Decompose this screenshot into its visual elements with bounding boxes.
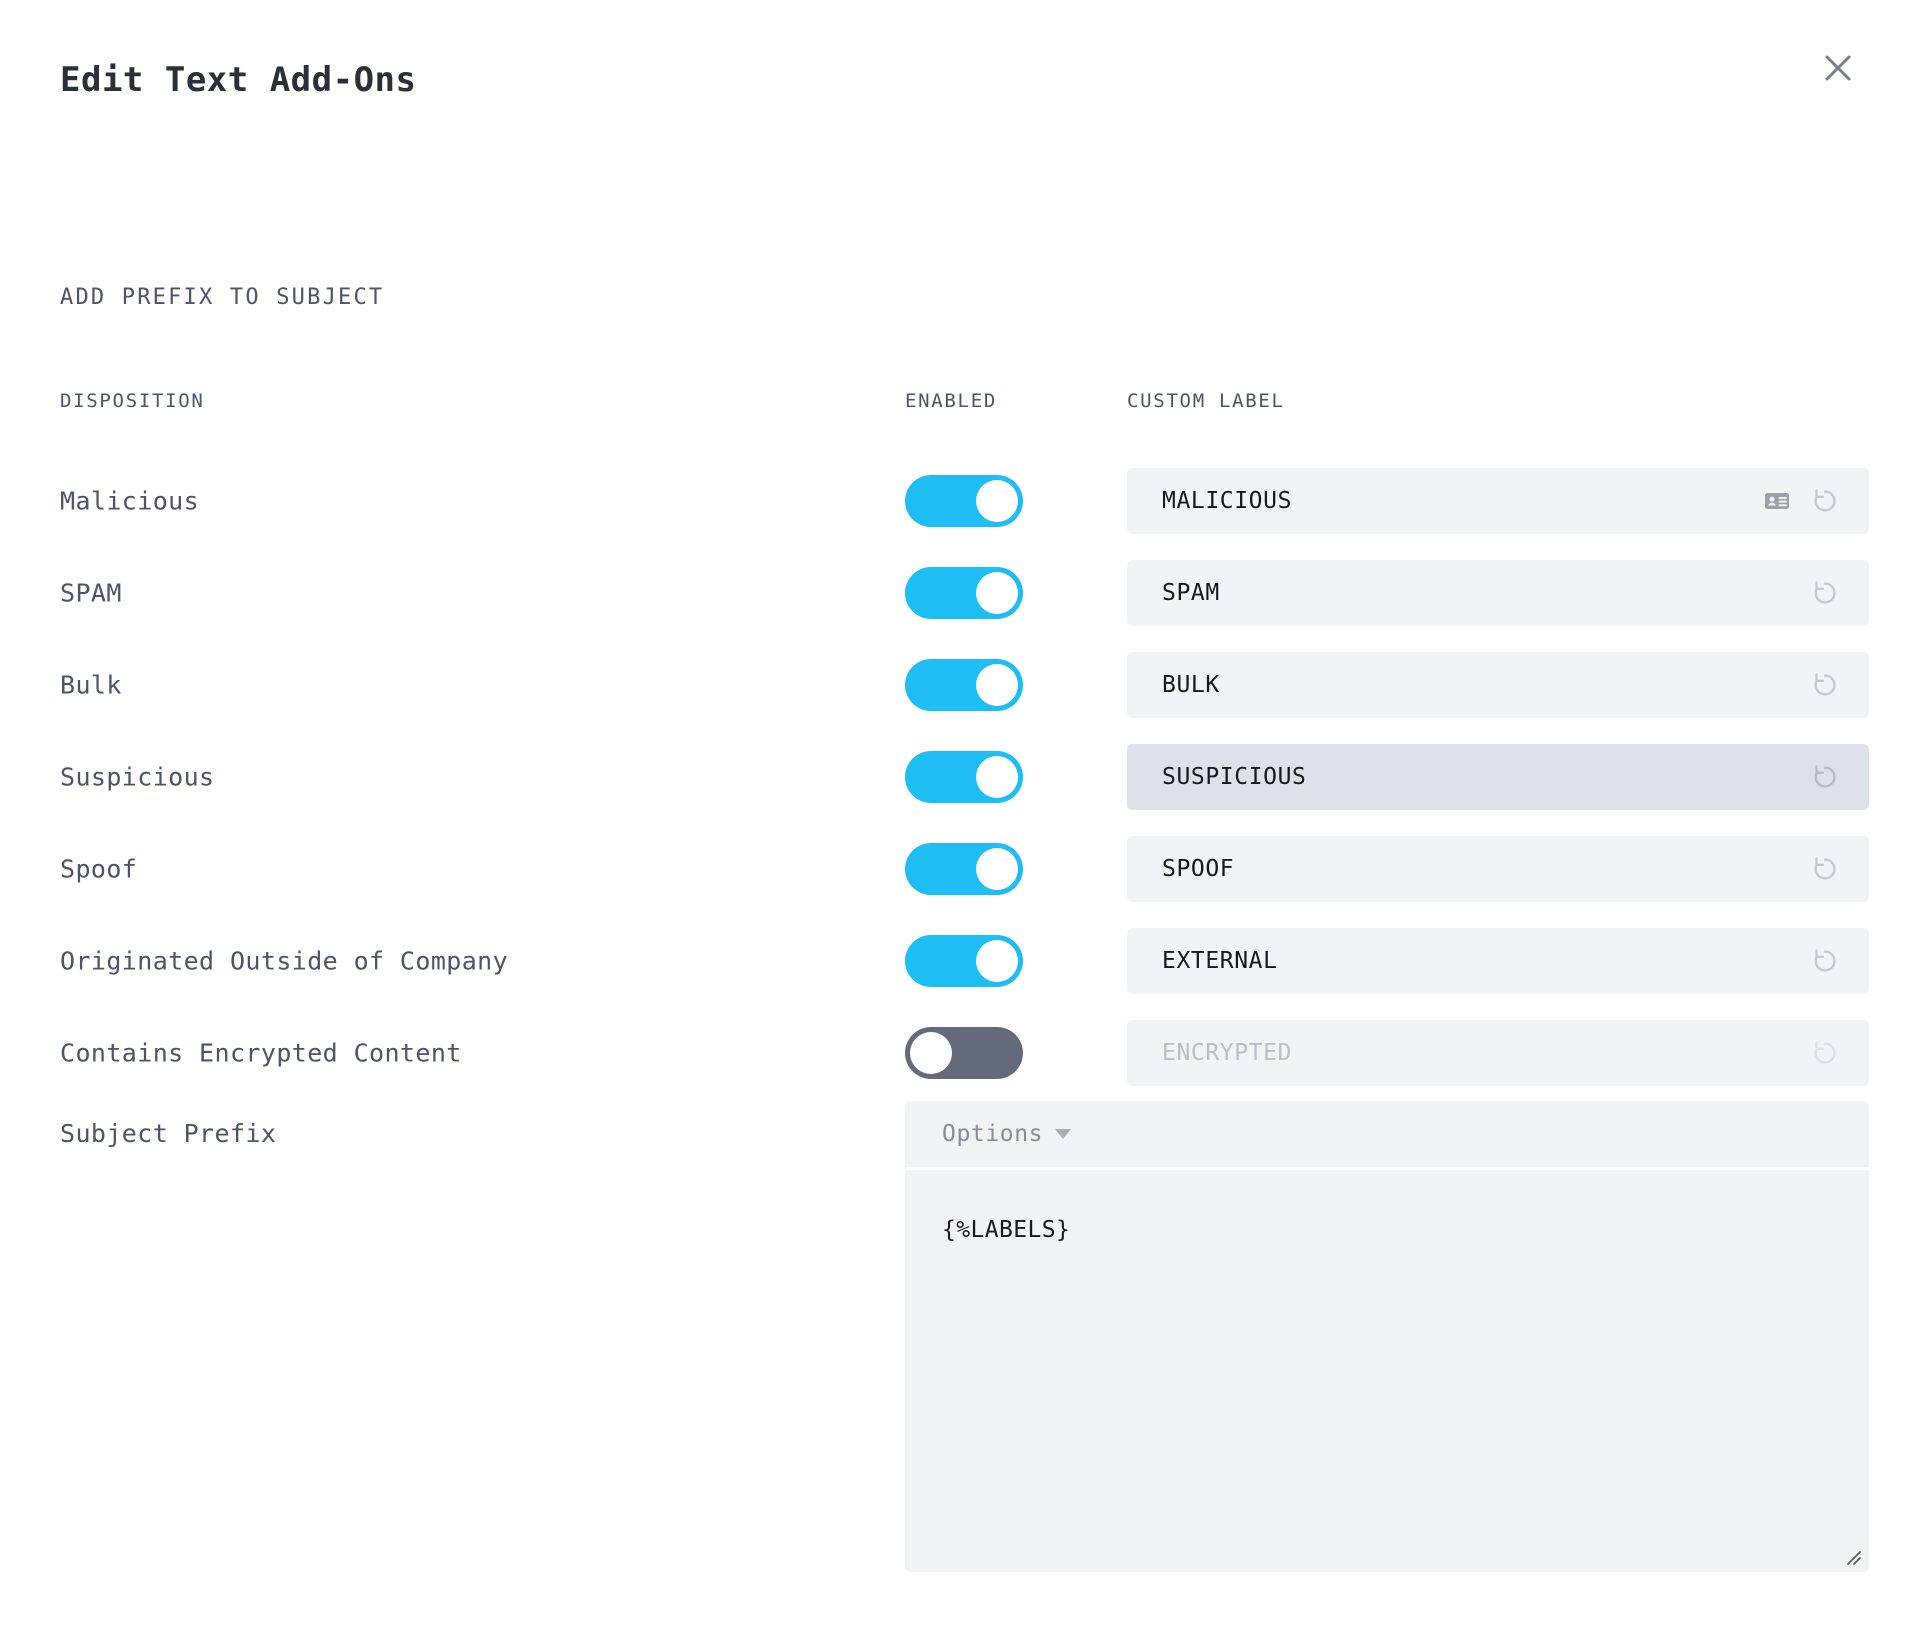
field-icons (1809, 669, 1841, 701)
reset-icon[interactable] (1809, 485, 1841, 517)
reset-icon[interactable] (1809, 669, 1841, 701)
table-row: Contains Encrypted ContentENCRYPTED (0, 1007, 1908, 1099)
field-icons (1809, 1037, 1841, 1069)
table-row: MaliciousMALICIOUS (0, 455, 1908, 547)
custom-label-input[interactable]: SUSPICIOUS (1127, 744, 1869, 810)
enabled-toggle[interactable] (905, 1027, 1023, 1079)
table-row: SpoofSPOOF (0, 823, 1908, 915)
reset-icon[interactable] (1809, 1037, 1841, 1069)
disposition-label: Contains Encrypted Content (60, 1039, 462, 1068)
close-button[interactable] (1816, 46, 1860, 90)
reset-icon[interactable] (1809, 761, 1841, 793)
enabled-toggle[interactable] (905, 659, 1023, 711)
custom-label-value: ENCRYPTED (1162, 1040, 1809, 1066)
reset-icon[interactable] (1809, 945, 1841, 977)
reset-icon[interactable] (1809, 853, 1841, 885)
column-header-disposition: DISPOSITION (60, 390, 205, 412)
table-row: BulkBULK (0, 639, 1908, 731)
field-icons (1809, 853, 1841, 885)
custom-label-input[interactable]: ENCRYPTED (1127, 1020, 1869, 1086)
subject-prefix-row: Subject Prefix Options (0, 1101, 1908, 1169)
custom-label-input[interactable]: MALICIOUS (1127, 468, 1869, 534)
custom-label-value: MALICIOUS (1162, 488, 1761, 514)
enabled-toggle[interactable] (905, 751, 1023, 803)
dialog-header: Edit Text Add-Ons (0, 0, 1908, 150)
column-header-enabled: ENABLED (905, 390, 997, 412)
custom-label-input[interactable]: SPAM (1127, 560, 1869, 626)
field-icons (1809, 945, 1841, 977)
disposition-label: Originated Outside of Company (60, 947, 508, 976)
resize-grip-icon[interactable] (1840, 1544, 1862, 1566)
enabled-toggle[interactable] (905, 475, 1023, 527)
table-column-headers: DISPOSITION ENABLED CUSTOM LABEL (0, 390, 1908, 420)
disposition-label: Spoof (60, 855, 137, 884)
table-row: SPAMSPAM (0, 547, 1908, 639)
options-dropdown-label: Options (942, 1121, 1043, 1147)
custom-label-input[interactable]: EXTERNAL (1127, 928, 1869, 994)
custom-label-input[interactable]: BULK (1127, 652, 1869, 718)
disposition-label: Suspicious (60, 763, 215, 792)
contact-card-icon[interactable] (1761, 485, 1793, 517)
reset-icon[interactable] (1809, 577, 1841, 609)
column-header-custom-label: CUSTOM LABEL (1127, 390, 1285, 412)
enabled-toggle[interactable] (905, 843, 1023, 895)
prefix-toolbar: Options (905, 1101, 1869, 1167)
enabled-toggle[interactable] (905, 935, 1023, 987)
subject-prefix-textarea[interactable]: {%LABELS} (905, 1170, 1869, 1572)
section-label: ADD PREFIX TO SUBJECT (60, 285, 384, 310)
toggle-knob (976, 480, 1018, 522)
toggle-knob (910, 1032, 952, 1074)
table-row: Originated Outside of CompanyEXTERNAL (0, 915, 1908, 1007)
table-row: SuspiciousSUSPICIOUS (0, 731, 1908, 823)
toggle-knob (976, 756, 1018, 798)
chevron-down-icon (1055, 1129, 1071, 1139)
page-title: Edit Text Add-Ons (60, 60, 417, 100)
toggle-knob (976, 848, 1018, 890)
disposition-label: SPAM (60, 579, 122, 608)
custom-label-value: SPAM (1162, 580, 1809, 606)
toggle-knob (976, 940, 1018, 982)
subject-prefix-value: {%LABELS} (942, 1217, 1070, 1243)
field-icons (1809, 577, 1841, 609)
field-icons (1809, 761, 1841, 793)
field-icons (1761, 485, 1841, 517)
custom-label-input[interactable]: SPOOF (1127, 836, 1869, 902)
enabled-toggle[interactable] (905, 567, 1023, 619)
custom-label-value: SPOOF (1162, 856, 1809, 882)
disposition-label: Bulk (60, 671, 122, 700)
toggle-knob (976, 664, 1018, 706)
subject-prefix-label: Subject Prefix (60, 1119, 276, 1148)
custom-label-value: EXTERNAL (1162, 948, 1809, 974)
custom-label-value: BULK (1162, 672, 1809, 698)
disposition-rows: MaliciousMALICIOUSSPAMSPAMBulkBULKSuspic… (0, 455, 1908, 1099)
close-icon (1823, 53, 1853, 83)
disposition-label: Malicious (60, 487, 199, 516)
custom-label-value: SUSPICIOUS (1162, 764, 1809, 790)
options-dropdown[interactable]: Options (942, 1121, 1071, 1147)
toggle-knob (976, 572, 1018, 614)
